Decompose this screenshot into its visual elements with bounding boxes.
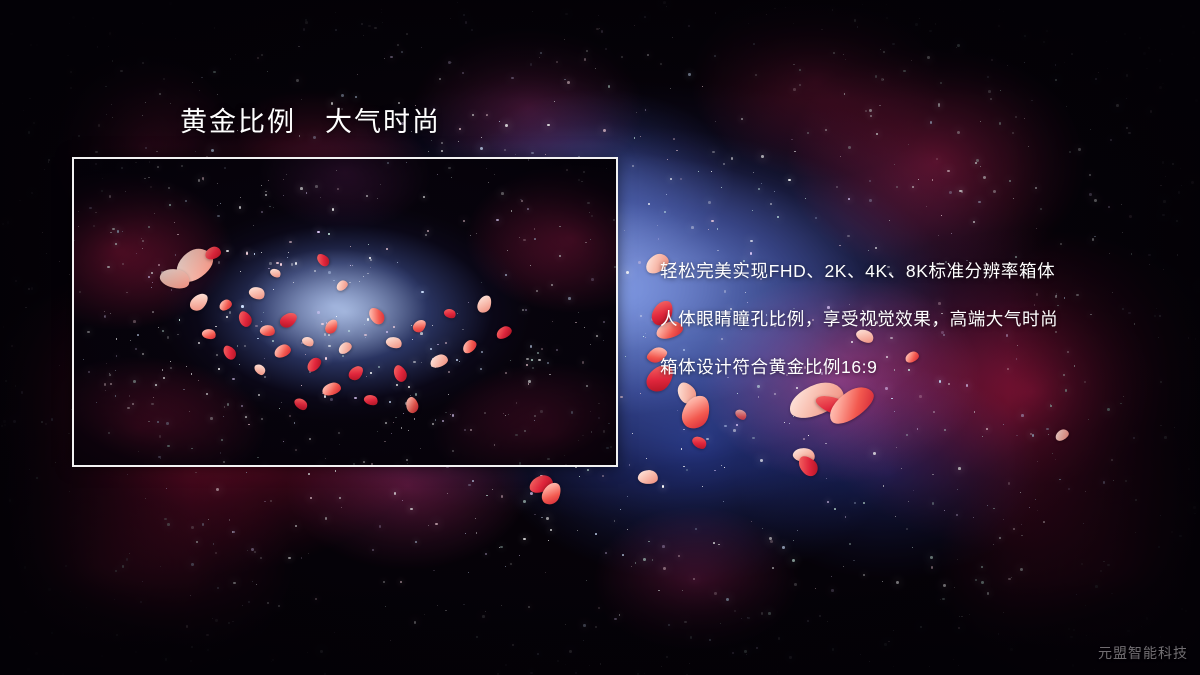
framed-image-panel[interactable] <box>72 157 618 467</box>
feature-description: 轻松完美实现FHD、2K、4K、8K标准分辨率箱体 人体眼睛瞳孔比例，享受视觉效… <box>660 258 1180 402</box>
panel-nebula-image <box>74 159 616 465</box>
description-line-2: 人体眼睛瞳孔比例，享受视觉效果，高端大气时尚 <box>660 306 1180 331</box>
watermark-label: 元盟智能科技 <box>1098 643 1188 663</box>
slide-canvas: 黄金比例 大气时尚 轻松完美实现FHD、2K、4K、8K标准分辨率箱体 人体眼睛… <box>0 0 1200 675</box>
page-title: 黄金比例 大气时尚 <box>180 100 441 139</box>
description-line-1: 轻松完美实现FHD、2K、4K、8K标准分辨率箱体 <box>660 258 1180 283</box>
description-line-3: 箱体设计符合黄金比例16:9 <box>660 354 1180 379</box>
